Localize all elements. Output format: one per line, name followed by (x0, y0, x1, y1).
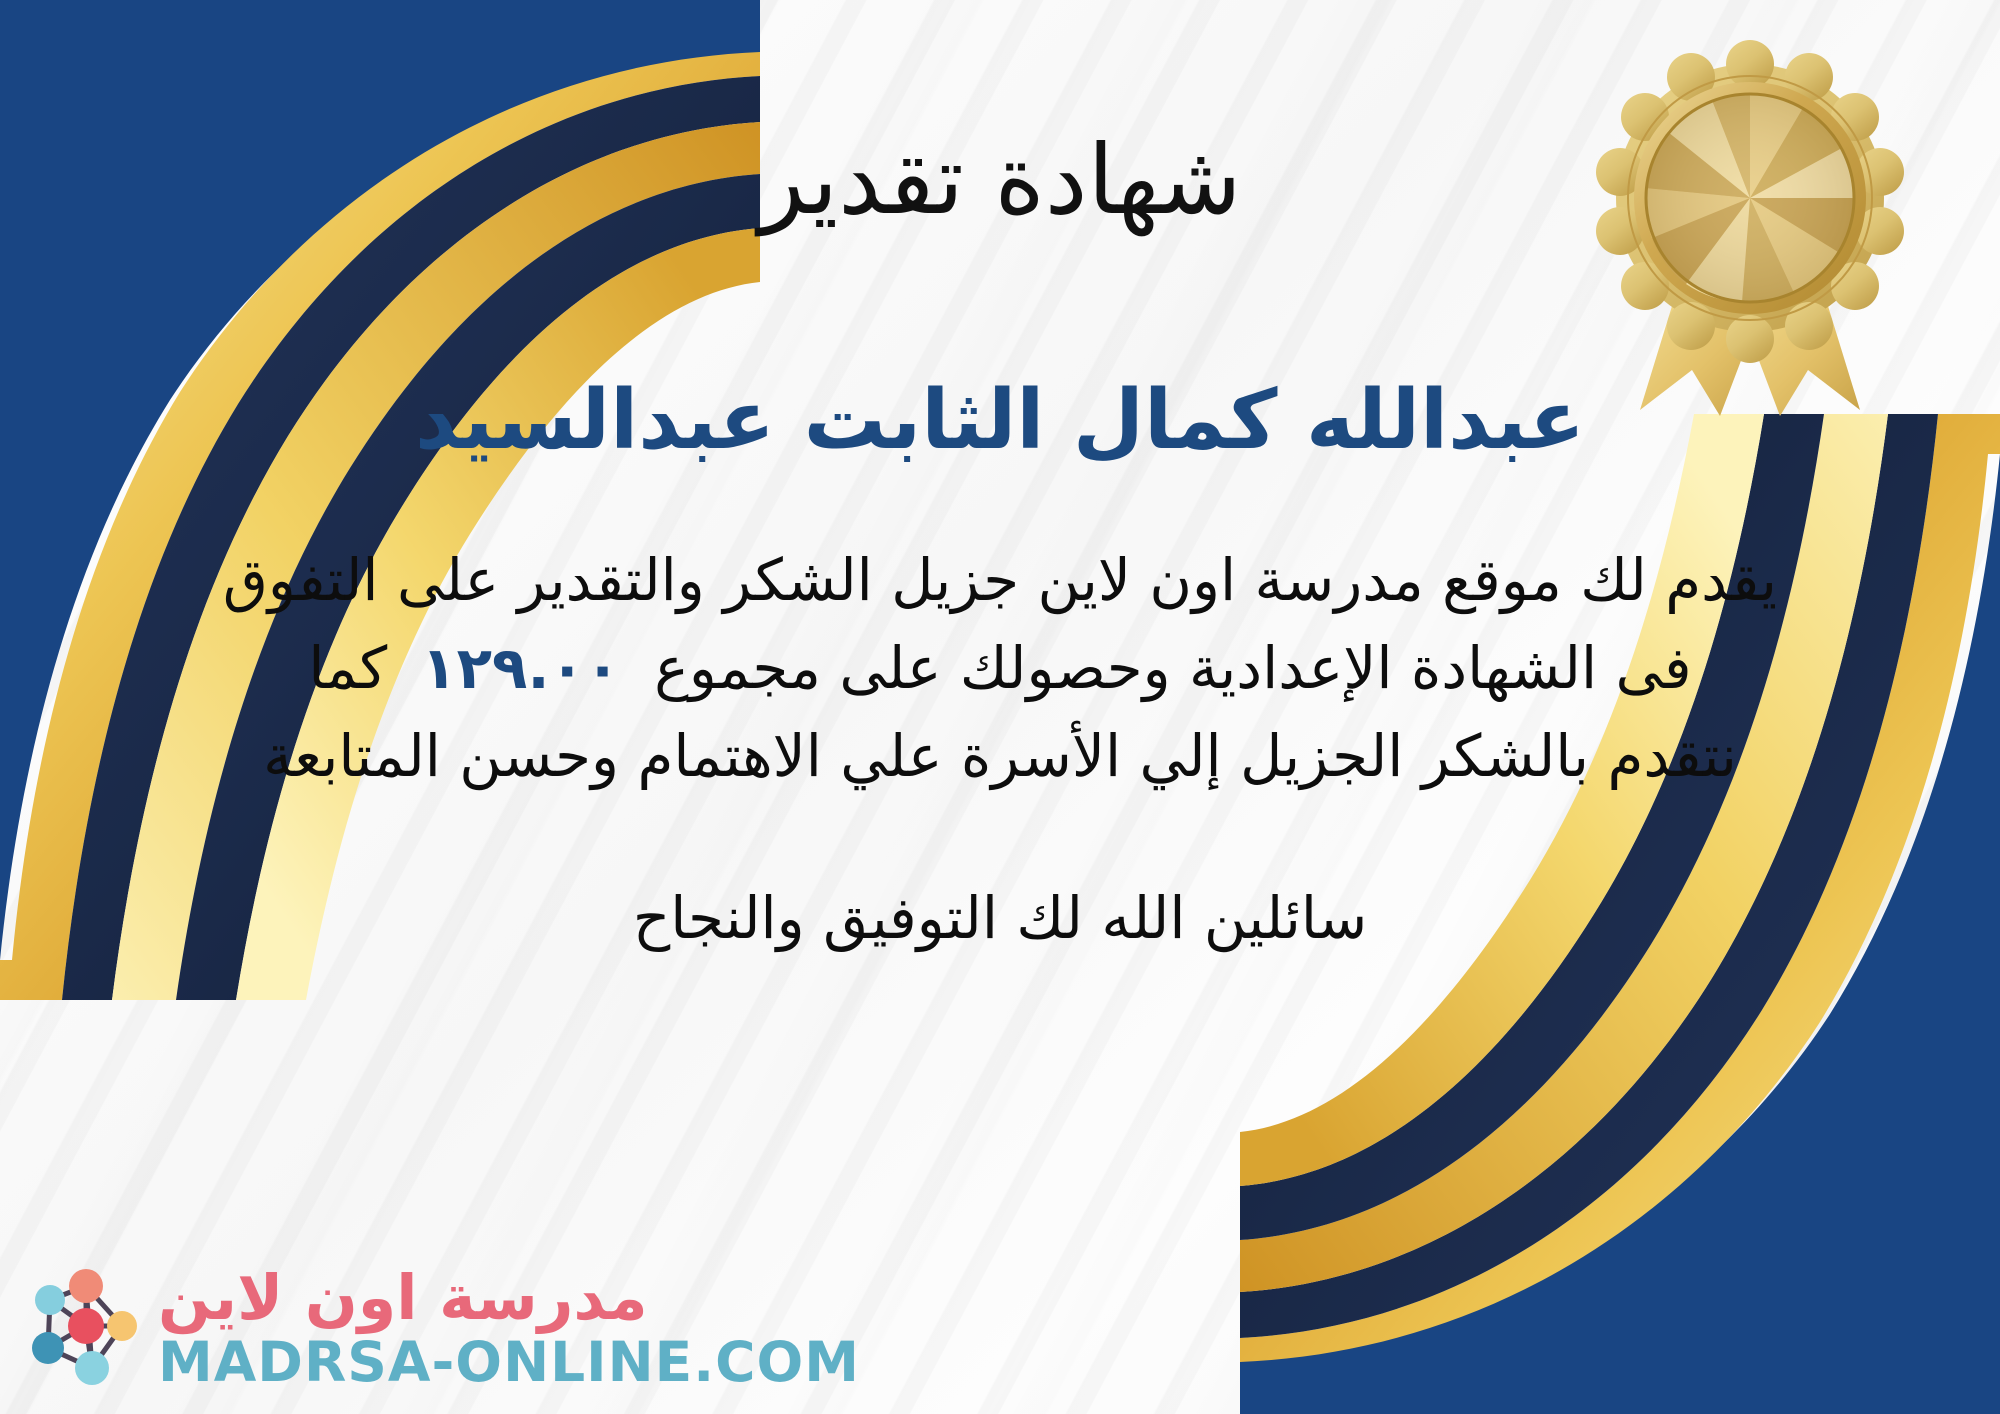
node-red (68, 1308, 104, 1344)
recipient-name: عبدالله كمال الثابت عبدالسيد (415, 376, 1585, 466)
node-amber (107, 1311, 137, 1341)
certificate-page: شهادة تقدير عبدالله كمال الثابت عبدالسيد… (0, 0, 2000, 1414)
body-line-1: يقدم لك موقع مدرسة اون لاين جزيل الشكر و… (60, 536, 1940, 624)
logo-arabic-name: مدرسة اون لاين (158, 1267, 648, 1329)
body-line-3: نتقدم بالشكر الجزيل إلي الأسرة علي الاهت… (60, 712, 1940, 800)
node-lightblue-upper (35, 1285, 65, 1315)
body-line-2-suffix: كما (308, 634, 387, 702)
score-value: ١٢٩.٠٠ (387, 634, 654, 702)
site-logo[interactable]: مدرسة اون لاين MADRSA-ONLINE.COM (26, 1264, 860, 1392)
network-nodes-icon (26, 1264, 144, 1392)
certificate-body: يقدم لك موقع مدرسة اون لاين جزيل الشكر و… (60, 536, 1940, 800)
body-line-2-prefix: فى الشهادة الإعدادية وحصولك على مجموع (654, 634, 1691, 702)
body-line-2: فى الشهادة الإعدادية وحصولك على مجموع١٢٩… (60, 624, 1940, 712)
certificate-content: شهادة تقدير عبدالله كمال الثابت عبدالسيد… (0, 0, 2000, 1414)
logo-website: MADRSA-ONLINE.COM (158, 1335, 860, 1390)
node-lightblue-lower (75, 1351, 109, 1385)
closing-wish: سائلين الله لك التوفيق والنجاح (633, 878, 1367, 959)
logo-text-group: مدرسة اون لاين MADRSA-ONLINE.COM (158, 1267, 860, 1390)
page-title: شهادة تقدير (759, 130, 1242, 231)
node-salmon (69, 1269, 103, 1303)
node-darkteal (32, 1332, 64, 1364)
